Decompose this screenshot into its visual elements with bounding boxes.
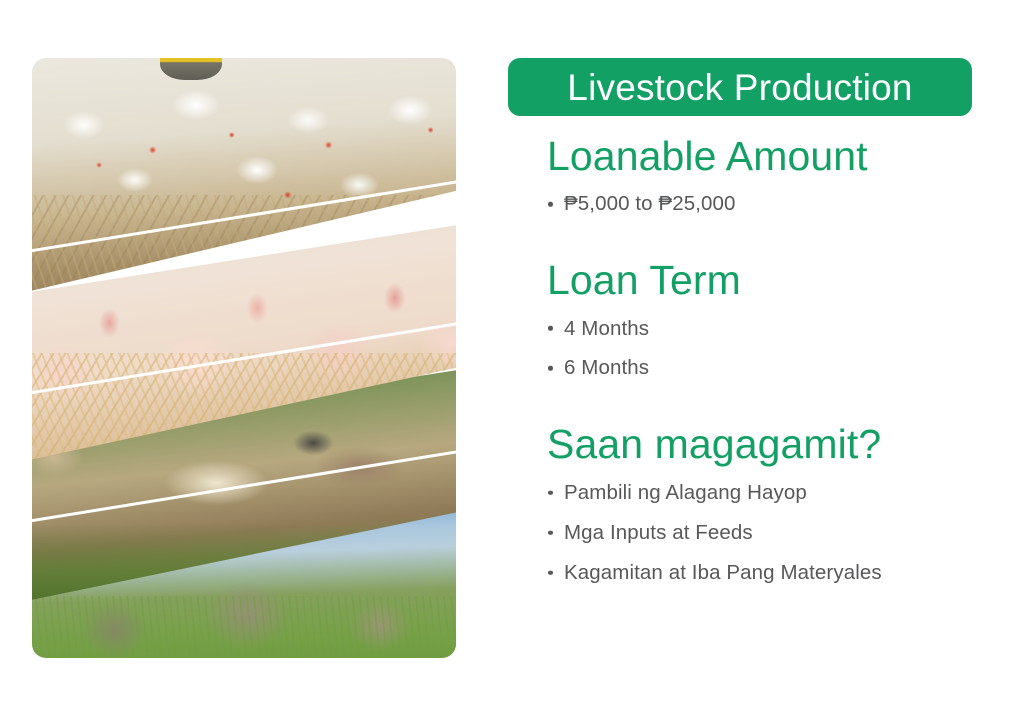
section-heading-saan-magagamit: Saan magagamit? <box>547 422 992 466</box>
page-title: Livestock Production <box>567 69 912 106</box>
sections-list: Loanable Amount ₱5,000 to ₱25,000 Loan T… <box>508 134 992 593</box>
livestock-photo-collage <box>32 58 456 658</box>
section-heading-loan-term: Loan Term <box>547 258 992 302</box>
list-item: 4 Months <box>547 309 992 349</box>
livestock-production-slide: Livestock Production Loanable Amount ₱5,… <box>0 0 1024 717</box>
section-loanable-amount: Loanable Amount ₱5,000 to ₱25,000 <box>547 134 992 224</box>
bullet-list-saan-magagamit: Pambili ng Alagang Hayop Mga Inputs at F… <box>547 473 992 593</box>
section-loan-term: Loan Term 4 Months 6 Months <box>547 258 992 388</box>
section-saan-magagamit: Saan magagamit? Pambili ng Alagang Hayop… <box>547 422 992 592</box>
list-item: ₱5,000 to ₱25,000 <box>547 184 992 224</box>
list-item: 6 Months <box>547 348 992 388</box>
bullet-list-loan-term: 4 Months 6 Months <box>547 309 992 389</box>
list-item: Mga Inputs at Feeds <box>547 513 992 553</box>
list-item: Kagamitan at Iba Pang Materyales <box>547 553 992 593</box>
list-item: Pambili ng Alagang Hayop <box>547 473 992 513</box>
content-column: Livestock Production Loanable Amount ₱5,… <box>508 58 992 593</box>
bullet-list-loanable-amount: ₱5,000 to ₱25,000 <box>547 184 992 224</box>
title-banner: Livestock Production <box>508 58 972 116</box>
section-heading-loanable-amount: Loanable Amount <box>547 134 992 178</box>
